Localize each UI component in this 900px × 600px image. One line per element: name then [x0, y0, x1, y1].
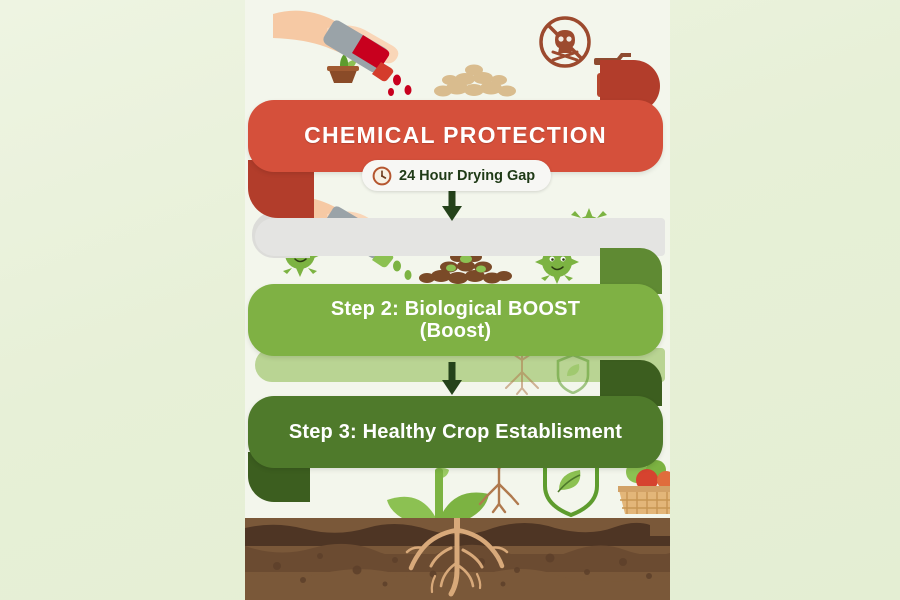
hand-pouring-chemical-icon: [273, 11, 412, 96]
ribbon-crop-label: Step 3: Healthy Crop Establisment: [263, 421, 648, 443]
arrow-down-icon-1: [441, 188, 463, 222]
shield-leaf-icon: [556, 354, 590, 394]
soil-illustration: [245, 518, 670, 600]
infographic-canvas: CHEMICAL PROTECTION 24 Hour Drying Gap: [0, 0, 900, 600]
clock-icon: [372, 166, 392, 186]
skull-glyph: [553, 30, 577, 60]
arrow-down-icon-2: [441, 362, 463, 396]
ribbon-healthy-crop[interactable]: Step 3: Healthy Crop Establisment: [248, 396, 663, 468]
treated-seed-pile-icon: [419, 252, 512, 284]
drying-gap-label: 24 Hour Drying Gap: [399, 168, 535, 184]
drying-gap-badge[interactable]: 24 Hour Drying Gap: [362, 160, 551, 191]
ribbon-biological-boost[interactable]: Step 2: Biological BOOST(Boost): [248, 284, 663, 356]
ribbon-biological-label: Step 2: Biological BOOST(Boost): [305, 298, 606, 343]
seed-pile-icon: [434, 65, 516, 97]
ribbon-chemical-label: CHEMICAL PROTECTION: [278, 123, 633, 149]
root-system-icon: [497, 352, 547, 396]
